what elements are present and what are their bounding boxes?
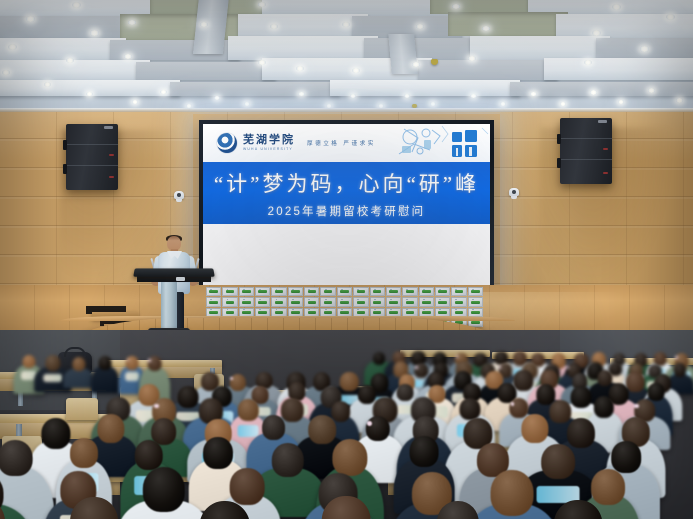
audience-member (173, 501, 277, 519)
gift-box (337, 287, 352, 296)
gift-box (288, 287, 303, 296)
torso (91, 366, 119, 393)
gift-box (304, 297, 319, 306)
gift-box (320, 287, 335, 296)
lectern-desktop (133, 268, 215, 276)
head (332, 439, 367, 476)
head (0, 497, 5, 519)
audience-member (299, 496, 393, 519)
university-seal-icon (217, 133, 237, 153)
head (126, 356, 139, 370)
slide-title-band: “计”梦为码，心向“研”峰 2025年暑期留校考研慰问 (203, 162, 490, 224)
gift-box (288, 297, 303, 306)
shirt-print (125, 372, 139, 380)
gift-box (337, 297, 352, 306)
shirt-print (43, 374, 63, 381)
presentation-slide: 芜湖学院 WUHU UNIVERSITY 厚德立格 严谨求实 (203, 124, 490, 288)
head (521, 414, 548, 443)
hair-clip (675, 356, 678, 359)
head (70, 438, 98, 468)
lectern-apron (137, 276, 211, 282)
audience-member (63, 357, 94, 391)
head (322, 496, 371, 519)
head (366, 416, 390, 442)
gift-box (370, 287, 385, 296)
head (199, 501, 251, 519)
university-name-cn: 芜湖学院 (243, 135, 295, 146)
gift-box (451, 287, 466, 296)
head (554, 500, 603, 519)
head (410, 436, 439, 467)
ceiling-duct (388, 34, 417, 74)
gift-box (255, 287, 270, 296)
gift-box (239, 287, 254, 296)
ptz-camera-left (173, 191, 185, 202)
gift-box (320, 297, 335, 306)
audience-member (0, 497, 41, 519)
audience-member (49, 497, 141, 519)
gift-box (419, 297, 434, 306)
head (135, 440, 164, 470)
ceiling-sensor-icon (431, 59, 438, 65)
gift-box (370, 297, 385, 306)
lecture-hall-photo: 芜湖学院 WUHU UNIVERSITY 厚德立格 严谨求实 (0, 0, 693, 519)
hair-clip (148, 359, 151, 362)
ceiling-duct (193, 0, 229, 54)
gift-box (435, 287, 450, 296)
audience-member (416, 501, 500, 519)
gift-box (271, 287, 286, 296)
head (203, 437, 233, 469)
head (436, 501, 478, 519)
gift-box (419, 287, 434, 296)
gift-box (468, 287, 483, 296)
blue-tech-graphic-icon (396, 124, 490, 162)
gift-box (386, 297, 401, 306)
head (45, 355, 60, 371)
gift-box (206, 287, 221, 296)
slide-subtitle: 2025年暑期留校考研慰问 (268, 203, 426, 219)
hair-clip (634, 404, 638, 408)
coffered-acoustic-ceiling (0, 0, 693, 113)
gift-box (239, 297, 254, 306)
head (99, 356, 112, 370)
hair-clip (415, 366, 418, 369)
slide-header: 芜湖学院 WUHU UNIVERSITY 厚德立格 严谨求实 (203, 124, 490, 162)
head (0, 440, 32, 477)
gift-box (468, 297, 483, 306)
gift-box (353, 297, 368, 306)
head (594, 396, 614, 418)
university-name-en: WUHU UNIVERSITY (243, 148, 295, 151)
slide-title: “计”梦为码，心向“研”峰 (214, 168, 479, 198)
gift-box (271, 297, 286, 306)
gift-box (304, 287, 319, 296)
audience-member (530, 500, 627, 519)
gift-box (402, 287, 417, 296)
gift-box (402, 297, 417, 306)
gift-box (435, 297, 450, 306)
audience-member (91, 356, 119, 396)
gift-box (255, 297, 270, 306)
gift-box (451, 297, 466, 306)
line-array-speaker-left (66, 124, 118, 190)
gift-box (222, 287, 237, 296)
lectern-stem (161, 281, 177, 330)
led-display-screen: 芜湖学院 WUHU UNIVERSITY 厚德立格 严谨求实 (199, 120, 494, 292)
ptz-camera-right (508, 188, 520, 199)
university-motto: 厚德立格 严谨求实 (307, 139, 376, 147)
gift-box (222, 297, 237, 306)
gift-box (386, 287, 401, 296)
head (72, 357, 85, 371)
line-array-speaker-right (560, 118, 612, 184)
gift-box (353, 287, 368, 296)
lectern-control-plate (176, 277, 185, 281)
gift-box (206, 297, 221, 306)
head (262, 415, 286, 440)
head (70, 497, 118, 519)
